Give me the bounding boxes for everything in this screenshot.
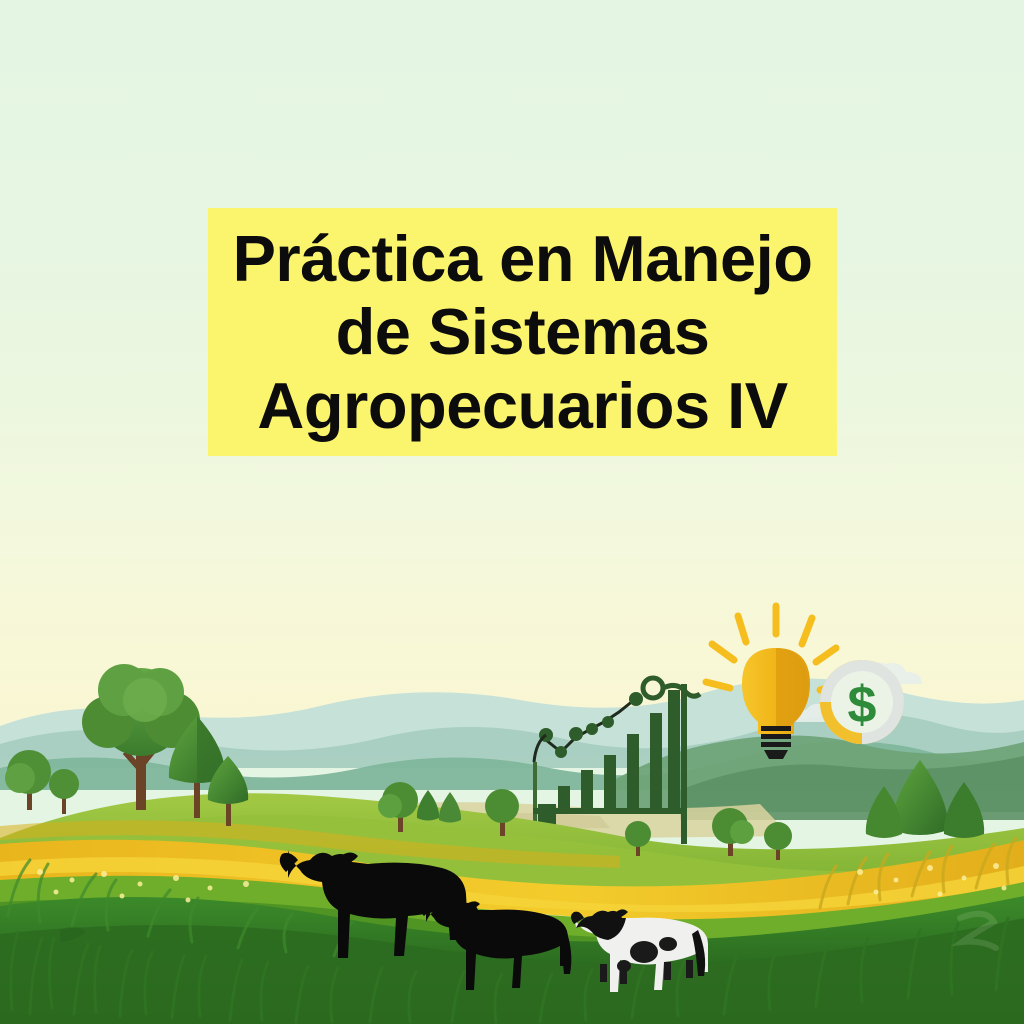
bush-round-1 (5, 750, 51, 810)
poster-canvas: $ (0, 0, 1024, 1024)
bar-4 (627, 734, 639, 808)
title-banner: Práctica en Manejo de Sistemas Agropecua… (208, 208, 837, 456)
tree-conifer-mid-2 (439, 792, 461, 823)
landscape-illustration: $ (0, 0, 1024, 1024)
chart-baseline (533, 808, 687, 814)
page-title: Práctica en Manejo de Sistemas Agropecua… (220, 222, 825, 442)
bar-5 (650, 713, 662, 808)
tree-conifer-mid-1 (417, 790, 439, 821)
bush-round-2 (49, 769, 79, 814)
bar-3 (604, 755, 616, 808)
chart-axis-pole-right (681, 684, 687, 844)
bar-6 (668, 690, 680, 808)
bar-1 (558, 786, 570, 808)
bar-2 (581, 770, 593, 808)
dollar-coin-icon: $ (820, 660, 904, 744)
svg-text:$: $ (848, 676, 877, 734)
